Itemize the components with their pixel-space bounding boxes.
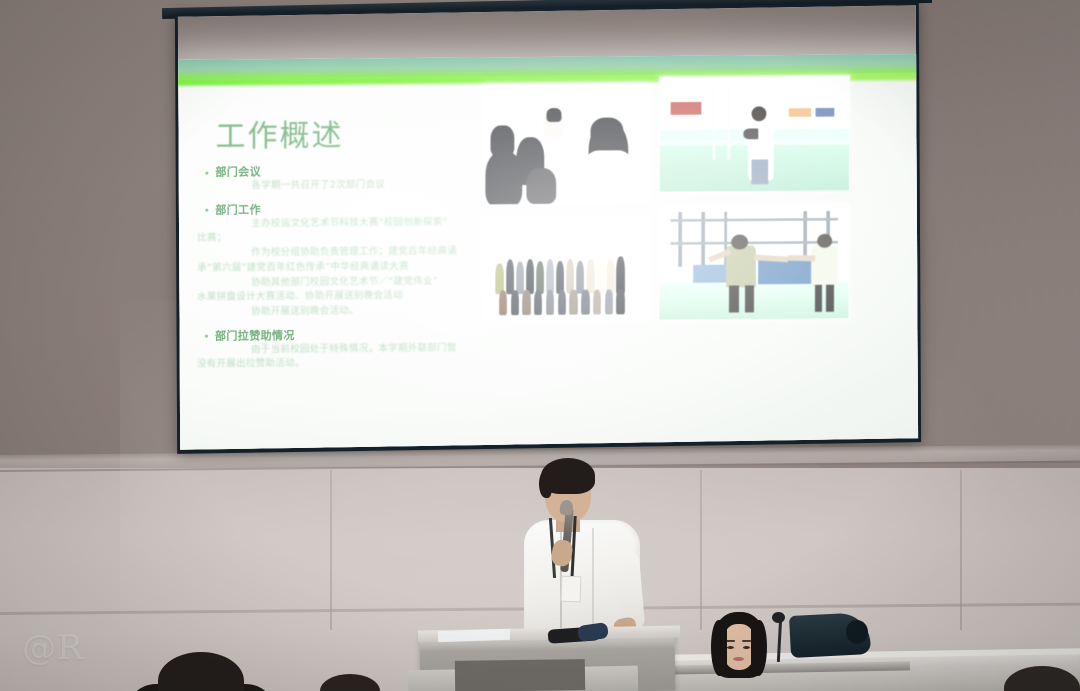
photo-orange-box [789,108,812,117]
photo-person-seated [511,290,519,315]
photo-person [546,259,554,294]
photo-person-seated [593,290,601,315]
slide-photo-meeting [481,82,651,205]
photo-post [713,88,716,159]
screen-surface: 工作概述 部门会议 各学期一共召开了2次部门会议 部门工作 主办校运文化艺术节科… [178,5,918,450]
table-microphone-head [772,612,785,623]
bullet-body: 主办校运文化艺术节科技大赛“校园创新探索” 比赛； 作为校分组协助负责管理工作；… [223,215,505,320]
bullet-heading-text: 部门工作 [215,203,261,216]
seated-attendee-brow [742,640,751,642]
photo-person [516,261,524,294]
seated-attendee-brow [726,640,735,642]
photo-exerciser-leg [815,284,823,312]
photo-person-seated [616,289,624,314]
presenter-id-badge [561,576,582,603]
slide-photo-group [481,216,651,322]
bullet-body: 各学期一共召开了2次部门会议 [223,177,505,194]
photo-person-seated [558,290,566,315]
seated-attendee-eye [727,646,734,649]
bullet-body-line: 协助开展送别晚会活动。 [223,303,505,320]
photo-red-banner [671,102,701,115]
photo-speaker-legs [751,159,768,184]
slide-title: 工作概述 [215,111,343,156]
photo-person-seated [534,290,542,315]
photo-person-seated [581,290,589,315]
bullet-block-work: 部门工作 主办校运文化艺术节科技大赛“校园创新探索” 比赛； 作为校分组协助负责… [205,199,505,320]
watermark: @R [22,628,84,668]
photo-person-seated [605,290,613,315]
bullet-block-meeting: 部门会议 各学期一共召开了2次部门会议 [205,161,505,194]
presenter-hair-side [539,470,552,498]
seated-attendee-lip [733,657,744,661]
photo-blue-box [815,108,834,117]
projection-screen: 工作概述 部门会议 各学期一共召开了2次部门会议 部门工作 主办校运文化艺术节科… [150,0,940,500]
seated-attendee-eye [743,646,750,649]
photo-person-body [583,150,634,203]
photo-person [506,259,514,294]
seated-attendee-hair-left [711,620,727,676]
podium-front-panel [455,659,585,691]
photo-person [566,259,574,294]
bullet-body: 由于当前校园处于特殊情况，本学期外联部门暂 没有开展出拉赞助活动。 [223,341,505,373]
photo-person [526,168,556,204]
photo-exerciser-leg [729,285,739,313]
photo-exerciser-head [817,234,832,248]
bullet-block-sponsorship: 部门拉赞助情况 由于当前校园处于特殊情况，本学期外联部门暂 没有开展出拉赞助活动… [205,325,505,373]
presenter-shirt-fold [592,528,594,632]
bullet-dot-icon [205,171,208,174]
bullet-body-line: 没有开展出拉赞助活动。 [197,356,505,373]
photo-exerciser-body [811,245,838,287]
bullet-dot-icon [205,335,208,338]
bullet-dot-icon [205,209,208,212]
photo-exerciser-leg [744,285,754,313]
lecture-hall-photo: 工作概述 部门会议 各学期一共召开了2次部门会议 部门工作 主办校运文化艺术节科… [0,0,1080,691]
handheld-microphone-head [559,499,573,515]
photo-exerciser-arm [788,254,815,260]
photo-post [728,88,731,159]
photo-person [526,259,534,294]
bullet-heading-text: 部门会议 [215,165,261,178]
photo-person [586,259,594,294]
bullet-heading-text: 部门拉赞助情况 [215,329,295,343]
wall-vertical-joint [960,470,962,630]
photo-exerciser-leg [826,284,834,312]
bullet-body-line: 各学期一共召开了2次部门会议 [223,177,505,194]
photo-person-seated [546,290,554,315]
slide-bullet-list: 部门会议 各学期一共召开了2次部门会议 部门工作 主办校运文化艺术节科技大赛“校… [205,161,506,380]
photo-person-head [590,117,624,148]
slide-photo-exercise [658,203,850,322]
photo-person-seated [499,290,507,315]
slide-photo-megaphone [658,75,850,194]
photo-person-seated [522,290,530,315]
photo-megaphone-icon [743,128,758,140]
slide-canvas: 工作概述 部门会议 各学期一共召开了2次部门会议 部门工作 主办校运文化艺术节科… [178,54,918,450]
photo-person [491,125,515,156]
photo-person-seated [569,290,577,315]
presentation-slide: 工作概述 部门会议 各学期一共召开了2次部门会议 部门工作 主办校运文化艺术节科… [178,54,918,450]
photo-person-head [546,108,561,123]
